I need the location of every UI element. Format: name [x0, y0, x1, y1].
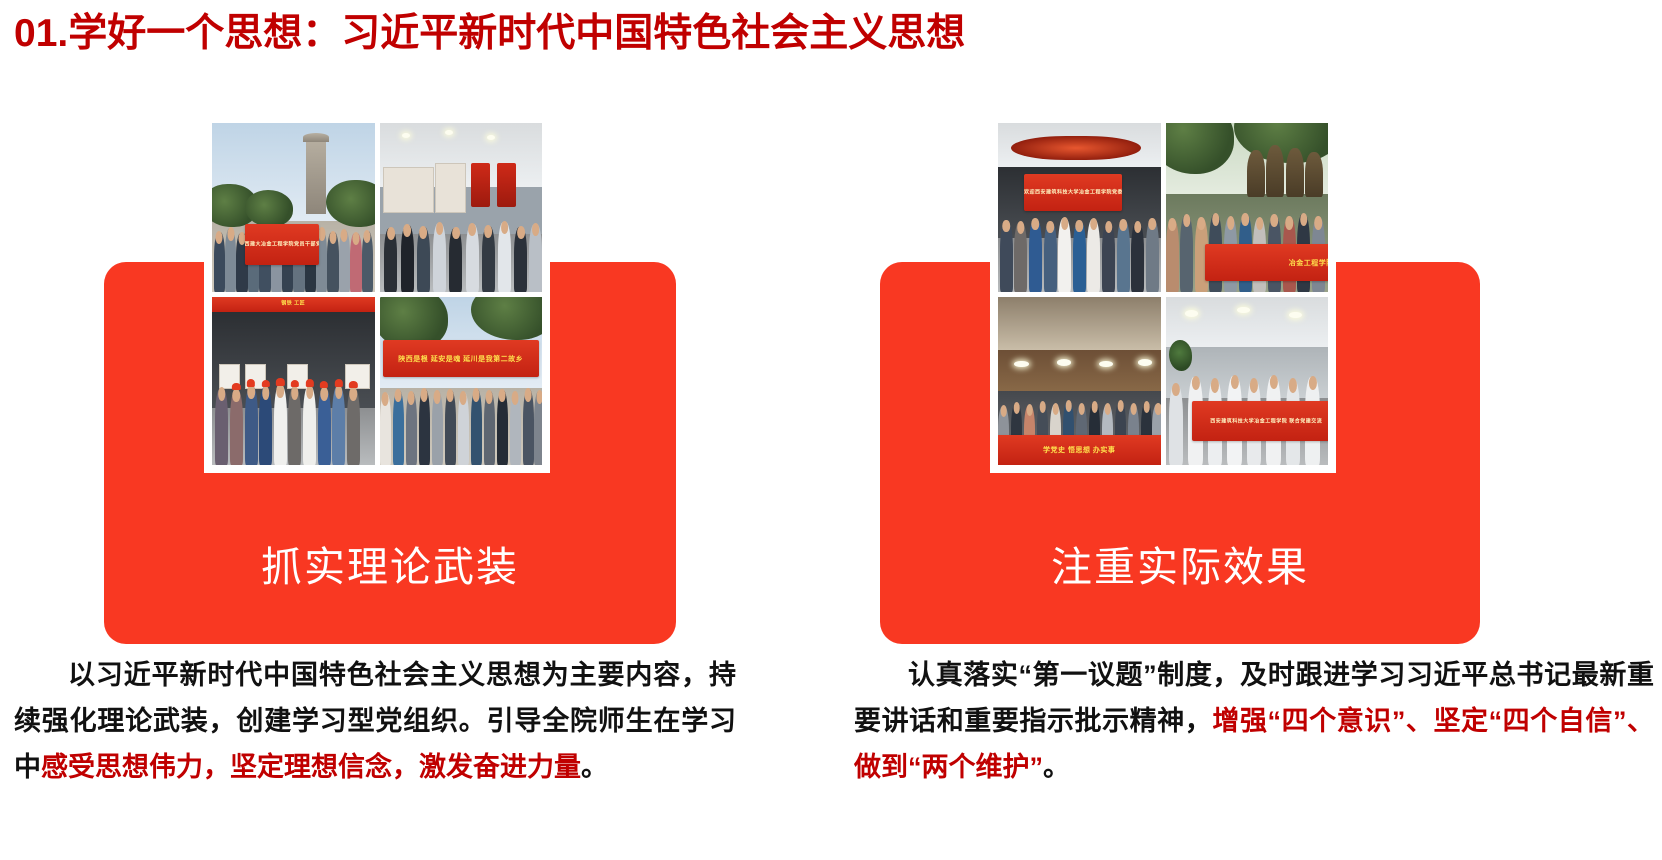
content-column-right: 注重实际效果 欢迎西安建筑科技大学冶金工程学院党委书记马立峰一行莅临: [812, 0, 1612, 860]
paragraph-segment-highlight: 感受思想伟力，坚定理想信念，激发奋进力量: [41, 752, 581, 782]
photo-banner-text: 钢铁 工匠: [212, 300, 375, 307]
photo-banner-text: 陕西是根 延安是魂 延川是我第二故乡: [383, 354, 539, 364]
photo-banner-text: 西安建筑科技大学冶金工程学院 联合党建交流: [1192, 418, 1329, 425]
paragraph-segment-plain-end: 。: [1043, 752, 1070, 782]
body-paragraph-right: 认真落实“第一议题”制度，及时跟进学习习近平总书记最新重要讲话和重要指示批示精神…: [854, 652, 1654, 790]
photo-yanan-banner-group-photo: 陕西是根 延安是魂 延川是我第二故乡: [380, 297, 543, 466]
photo-joint-party-building-signing: 西安建筑科技大学冶金工程学院 联合党建交流: [1166, 297, 1329, 466]
photo-collage-left: 西建大冶金工程学院党员干部党性教育培训班: [204, 115, 550, 473]
content-column-left: 抓实理论武装: [0, 0, 800, 860]
photo-factory-site-visit-hardhats: 钢铁 工匠: [212, 297, 375, 466]
photo-banner-text: 学党史 悟思想 办实事: [998, 445, 1161, 455]
card-heading-right: 注重实际效果: [880, 542, 1480, 592]
photo-statue-group-photo: 冶金工程学院: [1166, 123, 1329, 292]
photo-banner-text: 欢迎西安建筑科技大学冶金工程学院党委书记马立峰一行莅临: [1024, 189, 1122, 196]
photo-banner-text: 冶金工程学院: [1205, 258, 1329, 268]
photo-collage-right: 欢迎西安建筑科技大学冶金工程学院党委书记马立峰一行莅临: [990, 115, 1336, 473]
photo-party-history-hall-group: 学党史 悟思想 办实事: [998, 297, 1161, 466]
card-heading-left: 抓实理论武装: [104, 542, 676, 592]
photo-company-visit-red-screen: 欢迎西安建筑科技大学冶金工程学院党委书记马立峰一行莅临: [998, 123, 1161, 292]
photo-group-photo-pagoda: 西建大冶金工程学院党员干部党性教育培训班: [212, 123, 375, 292]
body-paragraph-left: 以习近平新时代中国特色社会主义思想为主要内容，持续强化理论武装，创建学习型党组织…: [14, 652, 736, 790]
photo-banner-text: 西建大冶金工程学院党员干部党性教育培训班: [245, 241, 320, 248]
photo-exhibition-hall-visit: [380, 123, 543, 292]
paragraph-segment-plain-end: 。: [581, 752, 608, 782]
